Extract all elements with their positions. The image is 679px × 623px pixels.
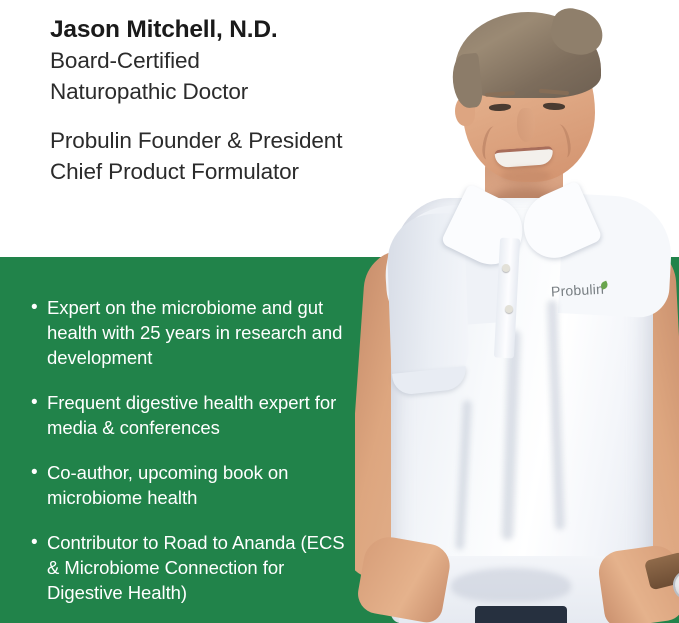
doctor-profile-card: Jason Mitchell, N.D. Board-Certified Nat…: [0, 0, 679, 623]
chin-shadow: [501, 168, 551, 184]
left-hand: [355, 533, 453, 623]
list-item: • Co-author, upcoming book on microbiome…: [31, 460, 361, 510]
shirt-button: [505, 305, 513, 313]
portrait-subject: Probulin: [355, 0, 679, 623]
doctor-portrait-photo: Probulin: [355, 0, 679, 623]
shirt-hem-fold: [451, 568, 571, 602]
list-item-text: Co-author, upcoming book on microbiome h…: [47, 460, 361, 510]
list-item: • Expert on the microbiome and gut healt…: [31, 295, 361, 370]
bullet-dot-icon: •: [31, 390, 47, 415]
bullet-dot-icon: •: [31, 295, 47, 320]
hair-sideburn: [450, 53, 483, 110]
list-item-text: Expert on the microbiome and gut health …: [47, 295, 361, 370]
list-item-text: Contributor to Road to Ananda (ECS & Mic…: [47, 530, 361, 605]
nose: [517, 108, 535, 142]
leaf-icon: [600, 281, 609, 290]
shirt-button: [502, 264, 510, 272]
list-item: • Contributor to Road to Ananda (ECS & M…: [31, 530, 361, 605]
bullet-dot-icon: •: [31, 530, 47, 555]
list-item: • Frequent digestive health expert for m…: [31, 390, 361, 440]
credentials-bullet-list: • Expert on the microbiome and gut healt…: [31, 295, 361, 623]
trouser-waistband: [475, 606, 567, 623]
bullet-dot-icon: •: [31, 460, 47, 485]
probulin-logo-text: Probulin: [551, 281, 605, 300]
probulin-shirt-logo: Probulin: [551, 281, 609, 300]
list-item-text: Frequent digestive health expert for med…: [47, 390, 361, 440]
